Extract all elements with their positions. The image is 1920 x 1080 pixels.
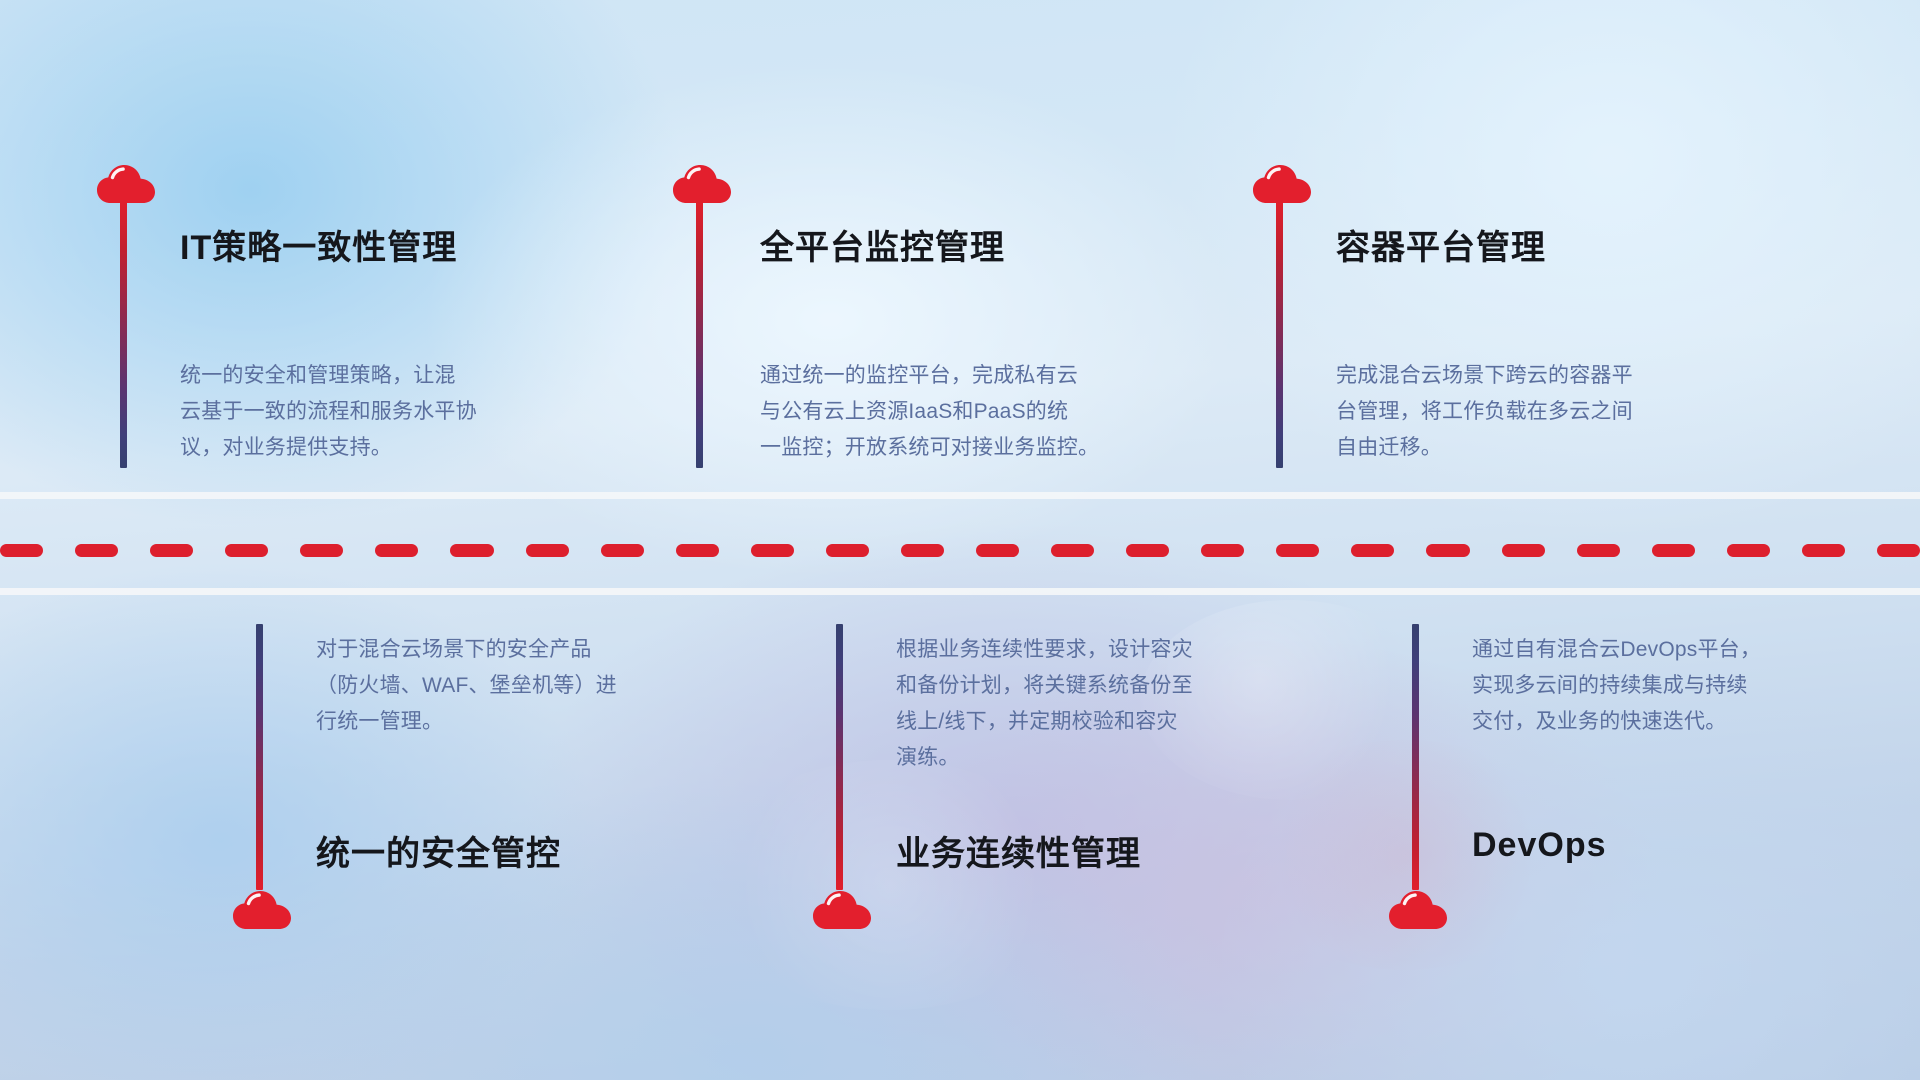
divider-dash bbox=[1051, 544, 1094, 557]
divider-dash bbox=[450, 544, 493, 557]
divider-dash bbox=[1652, 544, 1695, 557]
divider-dash bbox=[1877, 544, 1920, 557]
divider-dash bbox=[751, 544, 794, 557]
top-item-2-heading: 全平台监控管理 bbox=[760, 220, 1005, 269]
top-item-1-body: 统一的安全和管理策略，让混 云基于一致的流程和服务水平协 议，对业务提供支持。 bbox=[180, 358, 610, 466]
bottom-item-3-body: 通过自有混合云DevOps平台， 实现多云间的持续集成与持续 交付，及业务的快速… bbox=[1472, 632, 1892, 740]
cloud-icon bbox=[232, 886, 294, 930]
top-item-3-heading: 容器平台管理 bbox=[1336, 220, 1546, 269]
background-glow bbox=[420, 60, 1240, 580]
divider-dash bbox=[526, 544, 569, 557]
divider-dash bbox=[901, 544, 944, 557]
timeline-bar bbox=[836, 624, 843, 890]
red-dashed-separator bbox=[0, 544, 1920, 557]
bottom-item-1-heading: 统一的安全管控 bbox=[316, 826, 561, 875]
cloud-icon bbox=[672, 160, 734, 204]
infographic-canvas: IT策略一致性管理 统一的安全和管理策略，让混 云基于一致的流程和服务水平协 议… bbox=[0, 0, 1920, 1080]
cloud-icon bbox=[1252, 160, 1314, 204]
cloud-icon bbox=[1388, 886, 1450, 930]
top-item-2-body: 通过统一的监控平台，完成私有云 与公有云上资源IaaS和PaaS的统 一监控；开… bbox=[760, 358, 1190, 466]
bottom-item-2-heading: 业务连续性管理 bbox=[896, 826, 1141, 875]
divider-dash bbox=[1802, 544, 1845, 557]
divider-dash bbox=[976, 544, 1019, 557]
timeline-bar bbox=[1412, 624, 1419, 890]
divider-rule-top bbox=[0, 492, 1920, 499]
background-speckle bbox=[700, 760, 1080, 1010]
divider-dash bbox=[676, 544, 719, 557]
divider-dash bbox=[1276, 544, 1319, 557]
divider-dash bbox=[1577, 544, 1620, 557]
timeline-bar bbox=[256, 624, 263, 890]
bottom-item-1-body: 对于混合云场景下的安全产品 （防火墙、WAF、堡垒机等）进 行统一管理。 bbox=[316, 632, 746, 740]
cloud-icon bbox=[96, 160, 158, 204]
divider-dash bbox=[1351, 544, 1394, 557]
divider-dash bbox=[1502, 544, 1545, 557]
divider-dash bbox=[300, 544, 343, 557]
timeline-bar bbox=[696, 200, 703, 468]
divider-dash bbox=[1727, 544, 1770, 557]
divider-dash bbox=[225, 544, 268, 557]
divider-rule-bottom bbox=[0, 588, 1920, 595]
timeline-bar bbox=[1276, 200, 1283, 468]
top-item-3-body: 完成混合云场景下跨云的容器平 台管理，将工作负载在多云之间 自由迁移。 bbox=[1336, 358, 1756, 466]
divider-dash bbox=[75, 544, 118, 557]
divider-dash bbox=[1201, 544, 1244, 557]
divider-dash bbox=[150, 544, 193, 557]
divider-dash bbox=[601, 544, 644, 557]
divider-dash bbox=[375, 544, 418, 557]
divider-dash bbox=[1426, 544, 1469, 557]
timeline-bar bbox=[120, 200, 127, 468]
divider-dash bbox=[826, 544, 869, 557]
cloud-icon bbox=[812, 886, 874, 930]
divider-dash bbox=[1126, 544, 1169, 557]
bottom-item-2-body: 根据业务连续性要求，设计容灾 和备份计划，将关键系统备份至 线上/线下，并定期校… bbox=[896, 632, 1326, 776]
bottom-item-3-heading: DevOps bbox=[1472, 826, 1607, 865]
divider-dash bbox=[0, 544, 43, 557]
top-item-1-heading: IT策略一致性管理 bbox=[180, 220, 457, 269]
